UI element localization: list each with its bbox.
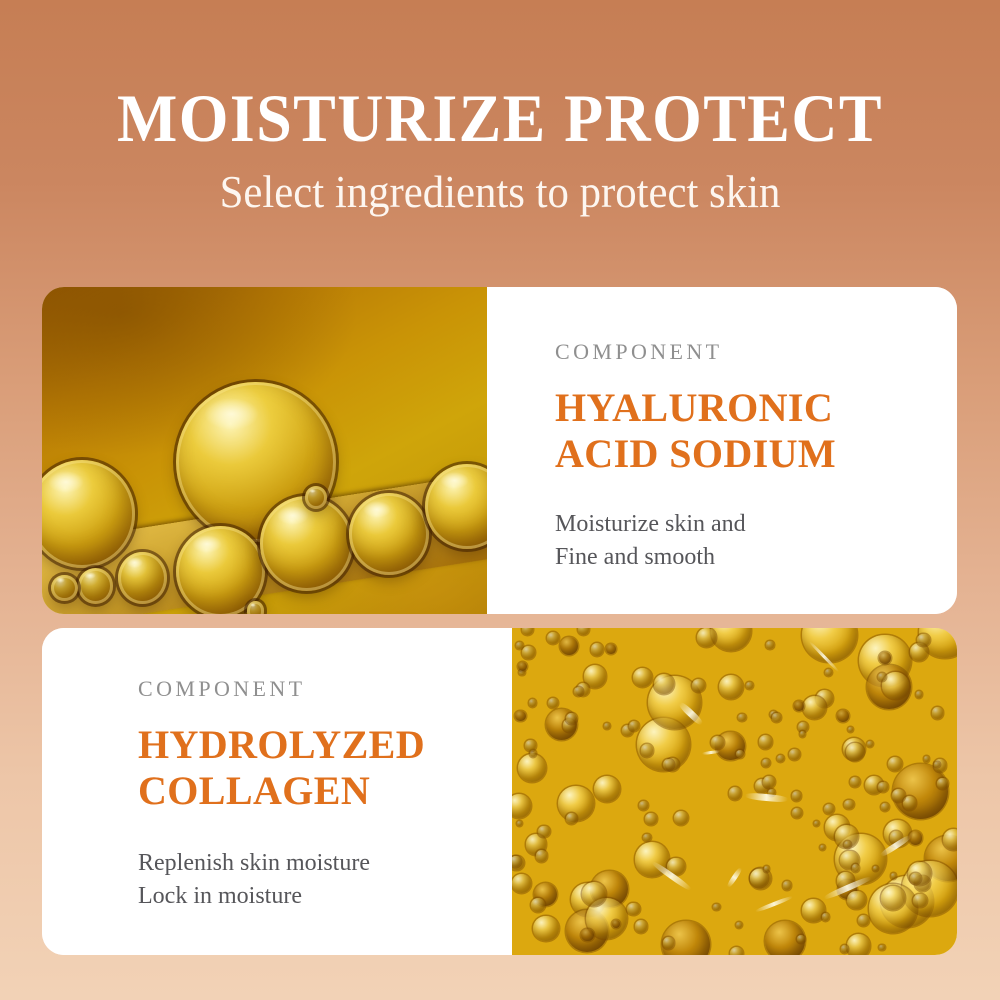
oil-bubble [641, 744, 654, 757]
oil-bubble [260, 496, 353, 591]
oil-bubble [943, 829, 957, 850]
oil-bubble [663, 937, 674, 948]
ingredient-description: Replenish skin moisture Lock in moisture [138, 847, 512, 912]
golden-oil-bubbles-photo [42, 287, 487, 614]
oil-bubble [522, 646, 535, 659]
oil-bubble [910, 873, 921, 884]
oil-bubble [639, 801, 648, 810]
oil-bubble [547, 632, 559, 644]
oil-bubble [512, 874, 531, 893]
oil-bubble [517, 821, 523, 827]
oil-bubble [881, 886, 905, 910]
oil-bubble [736, 922, 742, 928]
oil-bubble [924, 756, 930, 762]
oil-bubble [349, 493, 429, 575]
oil-bubble [873, 866, 878, 871]
oil-bubble [518, 754, 546, 782]
oil-bubble [910, 643, 928, 661]
ingredient-card-hyaluronic-acid-sodium: COMPONENT HYALURONIC ACID SODIUM Moistur… [42, 287, 957, 614]
ingredient-name-line-2: ACID SODIUM [555, 431, 957, 477]
oil-bubble [792, 808, 802, 818]
dense-golden-bubble-texture-photo [512, 628, 957, 955]
oil-bubble [762, 759, 771, 768]
oil-bubble [604, 723, 610, 729]
oil-bubble [814, 821, 819, 826]
oil-bubble [837, 710, 849, 722]
oil-bubble [891, 873, 896, 878]
oil-bubble [566, 813, 577, 824]
oil-bubble [772, 713, 781, 722]
component-label: COMPONENT [555, 339, 957, 365]
oil-bubble [627, 903, 639, 915]
ingredient-photo-hydrolyzed-collagen [512, 628, 957, 955]
oil-bubble [777, 755, 785, 763]
ingredient-card-hydrolyzed-collagen: COMPONENT HYDROLYZED COLLAGEN Replenish … [42, 628, 957, 955]
oil-bubble [606, 644, 616, 654]
ingredient-info-hyaluronic-acid-sodium: COMPONENT HYALURONIC ACID SODIUM Moistur… [487, 287, 957, 614]
oil-bubble [846, 743, 864, 761]
page-subtitle: Select ingredients to protect skin [35, 168, 965, 216]
oil-bubble [512, 794, 531, 818]
oil-bubble [578, 628, 590, 635]
ingredient-name-line-1: HYALURONIC [555, 385, 957, 431]
specular-highlight [726, 867, 743, 889]
oil-bubble [852, 864, 859, 871]
oil-bubble [516, 642, 523, 649]
oil-bubble [913, 894, 927, 908]
oil-bubble [763, 776, 775, 788]
oil-bubble [729, 787, 742, 800]
oil-bubble [536, 850, 548, 862]
oil-bubble [713, 904, 719, 910]
oil-bubble [802, 628, 856, 662]
oil-bubble [515, 711, 526, 722]
oil-bubble [932, 707, 943, 718]
ingredient-description-line-1: Moisturize skin and [555, 508, 957, 540]
oil-bubble [746, 682, 753, 689]
page-header: MOISTURIZE PROTECT Select ingredients to… [0, 84, 1000, 216]
oil-bubble [635, 920, 648, 933]
oil-bubble [879, 945, 884, 950]
oil-bubble [844, 800, 853, 809]
specular-highlight [755, 895, 794, 914]
ingredient-name: HYALURONIC ACID SODIUM [555, 385, 957, 476]
oil-bubble [825, 669, 832, 676]
oil-bubble [529, 699, 537, 707]
oil-bubble [916, 691, 923, 698]
ingredient-description: Moisturize skin and Fine and smooth [555, 508, 957, 573]
oil-bubble [789, 749, 800, 760]
oil-bubble [643, 834, 650, 841]
oil-bubble [937, 778, 948, 789]
oil-bubble [903, 796, 917, 809]
oil-bubble [783, 881, 792, 890]
oil-bubble [824, 804, 834, 814]
oil-bubble [803, 696, 826, 719]
oil-bubble [850, 777, 860, 787]
oil-bubble [560, 637, 578, 655]
oil-bubble [820, 845, 825, 850]
oil-bubble [934, 762, 940, 768]
specular-highlight [745, 792, 788, 803]
oil-bubble [594, 776, 620, 802]
oil-bubble [305, 486, 327, 509]
ingredient-name-line-1: HYDROLYZED [138, 722, 512, 768]
oil-bubble [78, 568, 114, 604]
oil-bubble [176, 526, 265, 614]
oil-bubble [917, 634, 930, 647]
oil-bubble [525, 740, 535, 750]
specular-highlight [702, 749, 720, 755]
oil-bubble [645, 813, 657, 825]
oil-bubble [848, 727, 853, 732]
oil-bubble [847, 891, 865, 909]
oil-bubble [764, 866, 770, 872]
oil-bubble [794, 701, 803, 710]
oil-bubble [533, 916, 559, 942]
ingredient-description-line-1: Replenish skin moisture [138, 847, 512, 879]
ingredient-name: HYDROLYZED COLLAGEN [138, 722, 512, 813]
oil-bubble [841, 945, 849, 953]
oil-bubble [719, 675, 743, 699]
oil-bubble [888, 757, 902, 771]
oil-bubble [633, 668, 652, 687]
oil-bubble [858, 915, 870, 927]
ingredient-description-line-2: Lock in moisture [138, 880, 512, 912]
oil-bubble [792, 791, 801, 800]
oil-bubble [881, 803, 889, 811]
oil-bubble [736, 750, 744, 758]
oil-bubble [566, 713, 577, 724]
oil-bubble [530, 750, 537, 757]
oil-bubble [574, 687, 583, 696]
oil-bubble [522, 628, 533, 635]
oil-bubble [531, 898, 545, 912]
oil-bubble [674, 811, 688, 825]
ingredient-photo-hyaluronic-acid-sodium [42, 287, 487, 614]
oil-bubble [591, 643, 604, 656]
oil-bubble [51, 575, 78, 601]
oil-bubble [711, 628, 751, 651]
oil-bubble [878, 782, 888, 792]
oil-bubble [730, 947, 743, 955]
component-label: COMPONENT [138, 676, 512, 702]
oil-bubble [759, 735, 772, 748]
oil-bubble [766, 641, 773, 648]
ingredient-name-line-2: COLLAGEN [138, 768, 512, 814]
oil-bubble [518, 662, 527, 671]
oil-bubble [247, 601, 265, 614]
oil-bubble [118, 552, 167, 604]
oil-bubble [738, 714, 746, 722]
ingredient-description-line-2: Fine and smooth [555, 541, 957, 573]
oil-bubble [692, 679, 705, 692]
oil-bubble [697, 628, 715, 646]
oil-bubble [800, 731, 806, 737]
oil-bubble [882, 672, 909, 699]
ingredient-info-hydrolyzed-collagen: COMPONENT HYDROLYZED COLLAGEN Replenish … [42, 628, 512, 955]
oil-bubble [538, 826, 550, 838]
page-title: MOISTURIZE PROTECT [30, 84, 970, 152]
oil-bubble [867, 741, 873, 747]
oil-bubble [847, 934, 871, 955]
oil-bubble [548, 698, 558, 708]
oil-bubble [629, 721, 639, 731]
oil-bubble [822, 913, 829, 920]
